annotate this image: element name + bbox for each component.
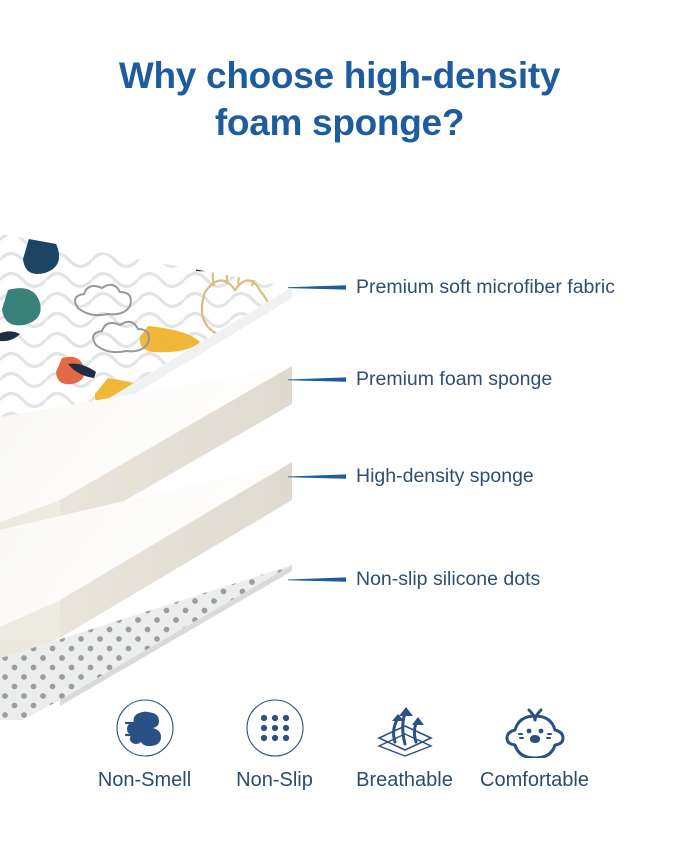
- feature-row: Non-Smell Non-Slip: [0, 692, 679, 807]
- feature-comfortable: Comfortable: [470, 692, 600, 792]
- feature-label-non-smell: Non-Smell: [98, 768, 191, 792]
- dot-grid-icon: [245, 692, 305, 764]
- label-high-density-sponge: High-density sponge: [356, 465, 534, 487]
- leader-line-fabric: [288, 285, 346, 289]
- leader-line-silicone: [288, 577, 346, 581]
- feature-label-non-slip: Non-Slip: [236, 768, 313, 792]
- baby-face-icon: [504, 692, 566, 764]
- label-premium-soft-microfiber-fabric: Premium soft microfiber fabric: [356, 276, 615, 298]
- label-non-slip-silicone-dots: Non-slip silicone dots: [356, 568, 540, 590]
- feature-non-slip: Non-Slip: [210, 692, 340, 792]
- leader-lines: [288, 270, 358, 590]
- title-line-1: Why choose high-density: [119, 55, 560, 96]
- feature-label-comfortable: Comfortable: [480, 768, 589, 792]
- feature-non-smell: Non-Smell: [80, 692, 210, 792]
- smell-waves-icon: [115, 692, 175, 764]
- feature-breathable: Breathable: [340, 692, 470, 792]
- leader-line-density: [288, 474, 346, 478]
- title-line-2: foam sponge?: [0, 99, 679, 146]
- leader-line-foam: [288, 377, 346, 381]
- infographic-canvas: Why choose high-density foam sponge?: [0, 0, 679, 849]
- breathable-layers-icon: [374, 692, 436, 764]
- label-premium-foam-sponge: Premium foam sponge: [356, 368, 552, 390]
- feature-label-breathable: Breathable: [356, 768, 453, 792]
- page-title: Why choose high-density foam sponge?: [0, 52, 679, 146]
